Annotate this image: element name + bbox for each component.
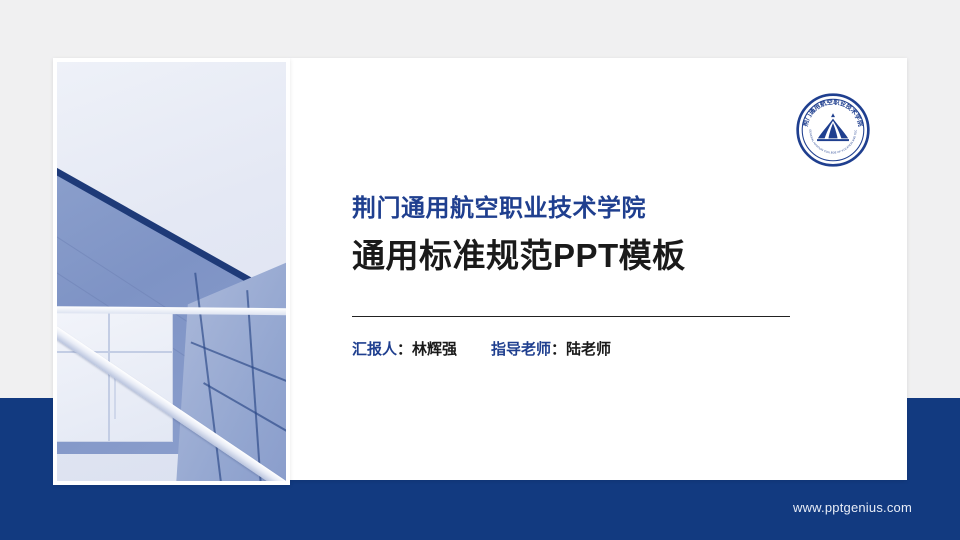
presenter-name: ：林辉强	[397, 341, 457, 358]
photo-window-mullion	[108, 311, 110, 441]
presentation-slide: 荆门通用航空职业技术学院 JINGMEN GENERAL AVIATION CO…	[0, 0, 960, 540]
advisor-label: 指导老师	[491, 341, 551, 358]
page-title: 通用标准规范PPT模板	[352, 238, 852, 274]
footer-url: www.pptgenius.com	[793, 500, 912, 515]
photo-window-mullion	[114, 375, 116, 419]
presenter-label: 汇报人	[352, 341, 397, 358]
photo-frame	[53, 58, 290, 485]
title-block: 荆门通用航空职业技术学院 通用标准规范PPT模板	[352, 196, 852, 275]
school-name: 荆门通用航空职业技术学院	[352, 196, 852, 222]
title-divider	[352, 316, 790, 317]
university-seal-icon: 荆门通用航空职业技术学院 JINGMEN GENERAL AVIATION CO…	[795, 92, 871, 168]
byline: 汇报人：林辉强指导老师：陆老师	[352, 338, 611, 359]
advisor-name: ：陆老师	[551, 341, 611, 358]
university-logo: 荆门通用航空职业技术学院 JINGMEN GENERAL AVIATION CO…	[795, 92, 871, 168]
architecture-photo	[57, 62, 286, 481]
